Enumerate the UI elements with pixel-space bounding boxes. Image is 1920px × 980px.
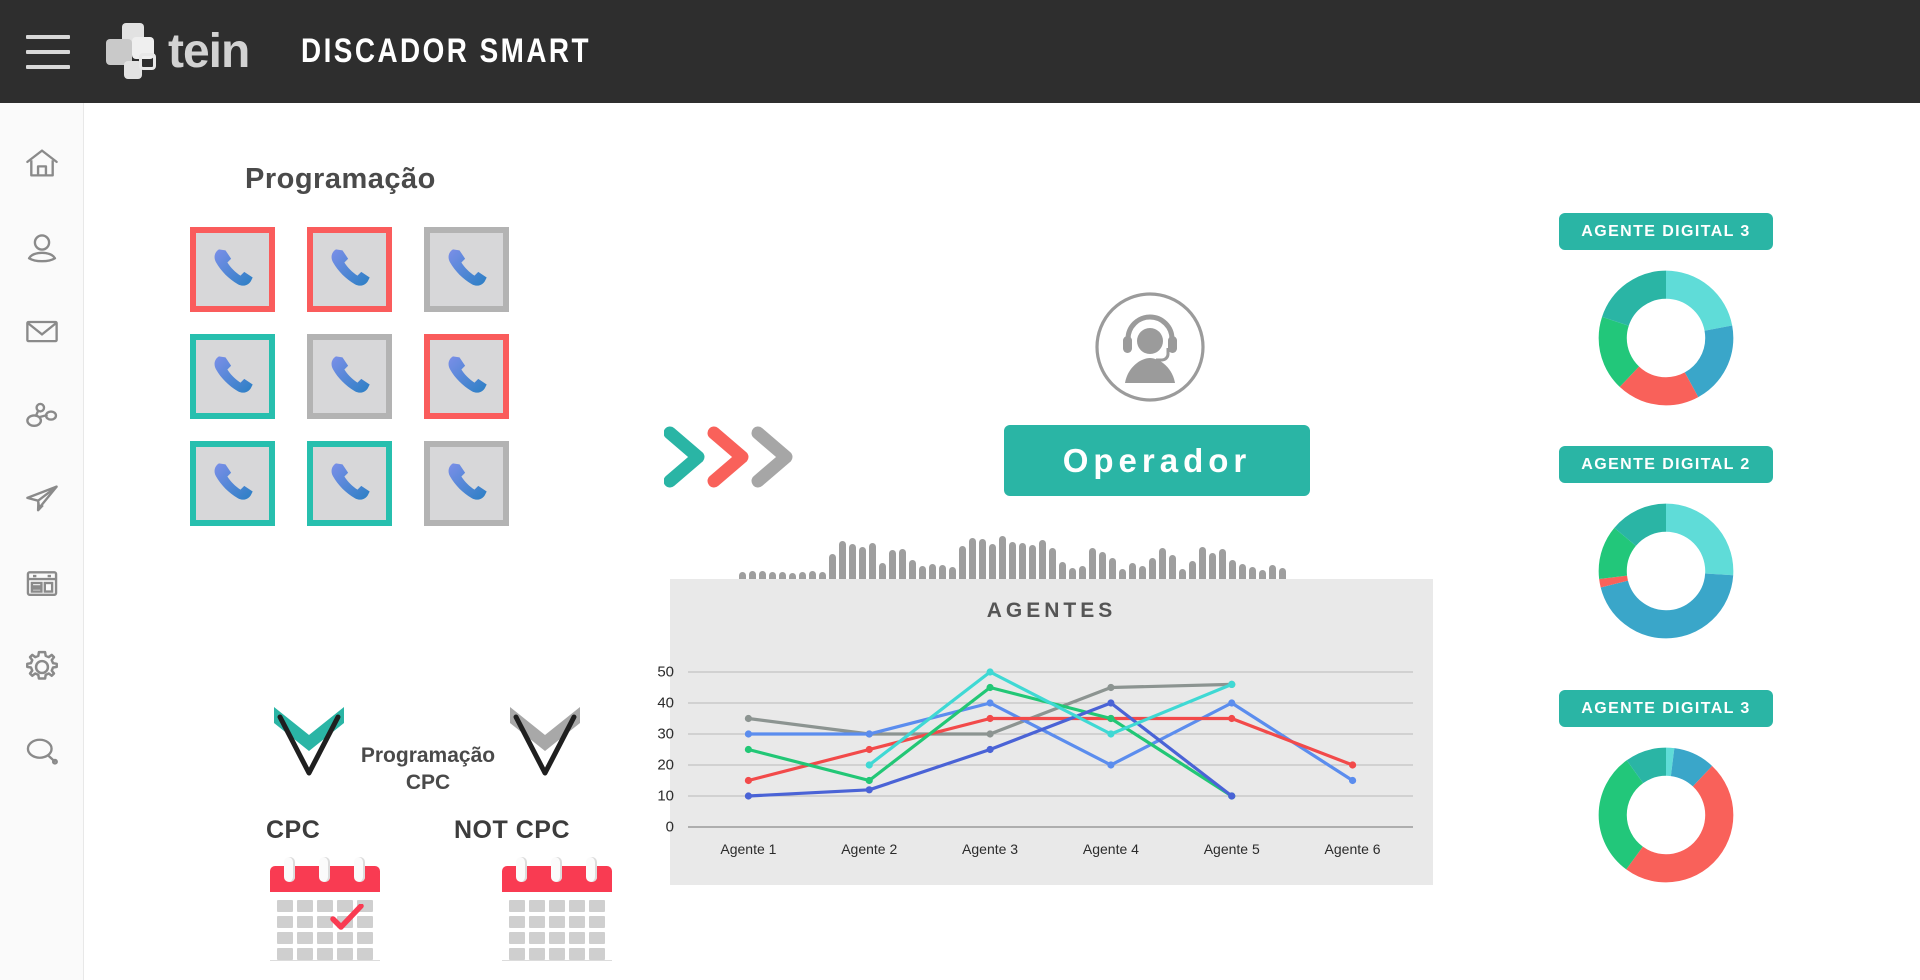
chart-data-point: [866, 746, 873, 753]
chart-data-point: [745, 746, 752, 753]
home-icon: [24, 145, 60, 181]
notcpc-calendar-icon[interactable]: [502, 866, 612, 972]
calendar-body: [502, 892, 612, 960]
phone-icon: [203, 347, 263, 407]
chart-data-point: [1228, 681, 1235, 688]
programacao-title: Programação: [245, 163, 436, 196]
phone-cell[interactable]: [424, 334, 509, 419]
sidebar-nav: [0, 103, 84, 980]
hamburger-icon[interactable]: [26, 35, 70, 69]
chart-data-point: [1107, 684, 1114, 691]
cpc-label: CPC: [266, 816, 320, 845]
agent-donut-chart-1: [1592, 264, 1740, 412]
sidebar-item-search[interactable]: [12, 709, 72, 793]
chart-data-point: [866, 777, 873, 784]
chart-data-point: [1107, 715, 1114, 722]
notcpc-label: NOT CPC: [454, 816, 570, 845]
user-icon: [24, 229, 60, 265]
search-icon: [24, 733, 60, 769]
chart-data-point: [1228, 715, 1235, 722]
app-header: tein DISCADOR SMART: [0, 0, 1920, 103]
chart-data-point: [745, 792, 752, 799]
chart-data-point: [1228, 792, 1235, 799]
chart-series-line: [748, 684, 1231, 734]
calendar-grid: [509, 900, 605, 960]
chart-data-point: [986, 699, 993, 706]
chart-data-point: [745, 730, 752, 737]
tein-logo-icon: [106, 23, 164, 81]
phone-icon: [320, 240, 380, 300]
chart-data-point: [745, 715, 752, 722]
phone-icon: [437, 347, 497, 407]
chart-data-point: [986, 668, 993, 675]
phone-status-grid: [190, 227, 541, 548]
chart-data-point: [1349, 761, 1356, 768]
agent-donut-chart-3: [1592, 741, 1740, 889]
phone-cell[interactable]: [307, 227, 392, 312]
phone-icon: [437, 454, 497, 514]
chart-data-point: [986, 684, 993, 691]
sidebar-item-send[interactable]: [12, 457, 72, 541]
share-icon: [24, 397, 60, 433]
phone-icon: [203, 454, 263, 514]
chart-data-point: [986, 730, 993, 737]
sidebar-item-mail[interactable]: [12, 289, 72, 373]
check-icon: [330, 904, 364, 934]
phone-icon: [437, 240, 497, 300]
agent-pill-label[interactable]: AGENTE DIGITAL 2: [1559, 446, 1773, 483]
programacao-cpc-line2: CPC: [348, 770, 508, 797]
chart-data-point: [1228, 699, 1235, 706]
chart-data-point: [986, 746, 993, 753]
agent-pill-label[interactable]: AGENTE DIGITAL 3: [1559, 213, 1773, 250]
sidebar-item-settings[interactable]: [12, 625, 72, 709]
agent-donut-chart-2: [1592, 497, 1740, 645]
phone-cell[interactable]: [307, 441, 392, 526]
chart-data-point: [1107, 761, 1114, 768]
chart-data-point: [866, 761, 873, 768]
chart-data-point: [745, 777, 752, 784]
cpc-arrow-icon: [270, 693, 348, 779]
agent-block-1: AGENTE DIGITAL 3: [1559, 213, 1773, 412]
chart-plot: [670, 579, 1433, 885]
chart-data-point: [866, 730, 873, 737]
phone-cell[interactable]: [190, 334, 275, 419]
agent-pill-label[interactable]: AGENTE DIGITAL 3: [1559, 690, 1773, 727]
logo-text: tein: [168, 28, 249, 76]
calendar-body: [270, 892, 380, 960]
programacao-cpc-line1: Programação: [348, 743, 508, 770]
operador-button[interactable]: Operador: [1004, 425, 1310, 496]
phone-cell[interactable]: [190, 227, 275, 312]
phone-cell[interactable]: [424, 441, 509, 526]
mail-icon: [24, 313, 60, 349]
phone-cell[interactable]: [424, 227, 509, 312]
chart-data-point: [1349, 777, 1356, 784]
gear-icon: [23, 648, 61, 686]
calendar-header: [270, 866, 380, 892]
calendar-header: [502, 866, 612, 892]
triple-chevron-icon: [664, 425, 814, 489]
chart-data-point: [1107, 730, 1114, 737]
calendar-icon: [24, 565, 60, 601]
agent-block-3: AGENTE DIGITAL 3: [1559, 690, 1773, 889]
sidebar-item-network[interactable]: [12, 373, 72, 457]
phone-icon: [320, 347, 380, 407]
cpc-calendar-icon[interactable]: [270, 866, 380, 972]
sidebar-item-home[interactable]: [12, 121, 72, 205]
main-canvas: Programação Programação CPC CPC NOT CPC: [84, 103, 1920, 980]
sidebar-item-agenda[interactable]: [12, 541, 72, 625]
phone-icon: [320, 454, 380, 514]
phone-cell[interactable]: [307, 334, 392, 419]
chart-data-point: [1107, 699, 1114, 706]
chart-series-line: [748, 703, 1352, 781]
brand-logo[interactable]: tein: [106, 23, 249, 81]
sidebar-item-profile[interactable]: [12, 205, 72, 289]
send-icon: [24, 481, 60, 517]
programacao-cpc-label: Programação CPC: [348, 743, 508, 797]
agent-block-2: AGENTE DIGITAL 2: [1559, 446, 1773, 645]
notcpc-arrow-icon: [506, 693, 584, 779]
phone-icon: [203, 240, 263, 300]
phone-cell[interactable]: [190, 441, 275, 526]
headset-operator-icon: [1094, 291, 1206, 403]
app-title: DISCADOR SMART: [301, 32, 591, 71]
chart-data-point: [866, 786, 873, 793]
chart-data-point: [986, 715, 993, 722]
